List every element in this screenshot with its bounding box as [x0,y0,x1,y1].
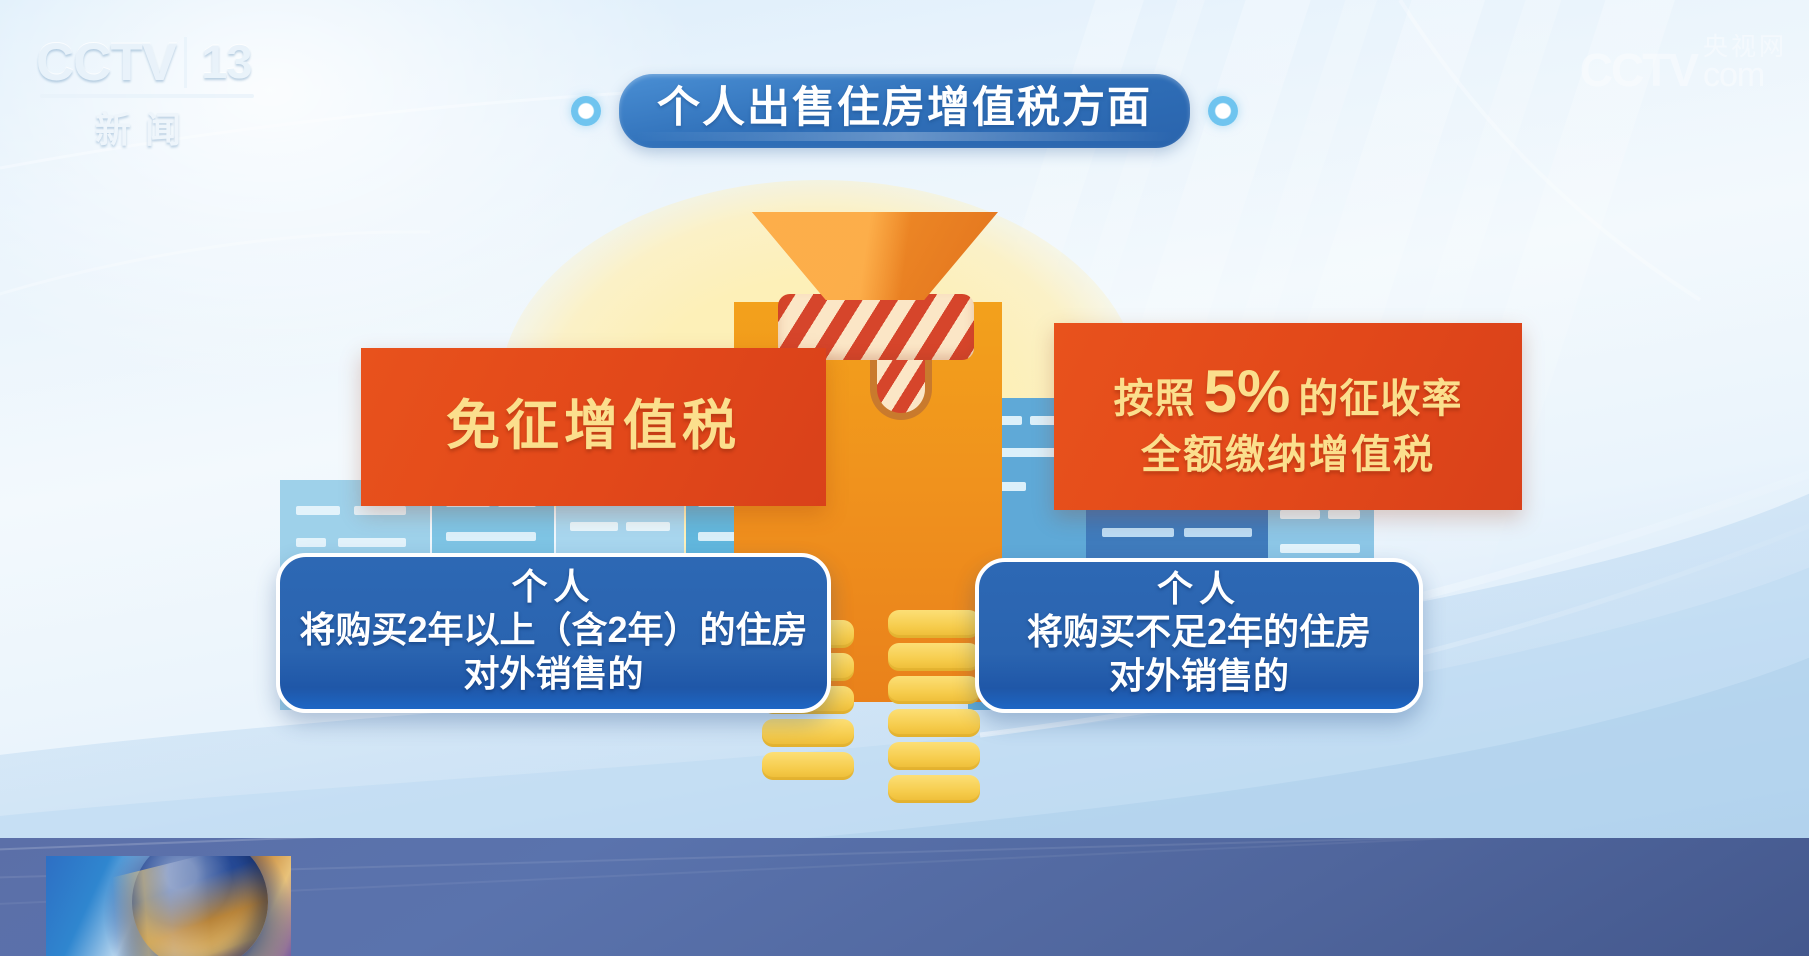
banner-left: 免征增值税 [361,348,826,506]
condition-right-line2: 对外销售的 [1109,654,1289,698]
headline-row: 个人出售住房增值税方面 [0,74,1809,148]
banner-right-line1: 按照 5% 的征收率 [1114,358,1463,426]
condition-left-line2: 对外销售的 [463,652,643,696]
banner-right: 按照 5% 的征收率 全额缴纳增值税 [1054,323,1522,510]
illustration-scene [0,150,1809,710]
broadcast-graphic-screen: CCTV 13 新闻 CCTV 央视网 com 个人出售住房增值税方面 [0,0,1809,956]
condition-right-head: 个人 [1157,567,1241,610]
thumbnail-light-sweep [46,856,291,956]
condition-card-left: 个人 将购买2年以上（含2年）的住房 对外销售的 [276,553,831,713]
condition-right-line1: 将购买不足2年的住房 [1027,610,1371,654]
news-globe-thumbnail[interactable] [46,856,291,956]
circle-dot-icon-left [571,96,601,126]
coin-stack-icon [888,610,980,808]
banner-right-rate: 5% [1204,358,1291,426]
condition-card-right: 个人 将购买不足2年的住房 对外销售的 [975,558,1423,713]
banner-right-prefix: 按照 [1114,377,1196,423]
banner-right-suffix: 的征收率 [1298,377,1462,423]
funnel-cone-highlight [752,212,998,300]
banner-right-line2: 全额缴纳增值税 [1141,431,1435,479]
headline-pill: 个人出售住房增值税方面 [619,74,1190,148]
bottom-strip [0,838,1809,956]
condition-left-line1: 将购买2年以上（含2年）的住房 [299,608,807,652]
page-title: 个人出售住房增值税方面 [657,84,1152,134]
condition-left-head: 个人 [511,565,595,608]
banner-left-text: 免征增值税 [446,398,741,455]
circle-dot-icon-right [1208,96,1238,126]
